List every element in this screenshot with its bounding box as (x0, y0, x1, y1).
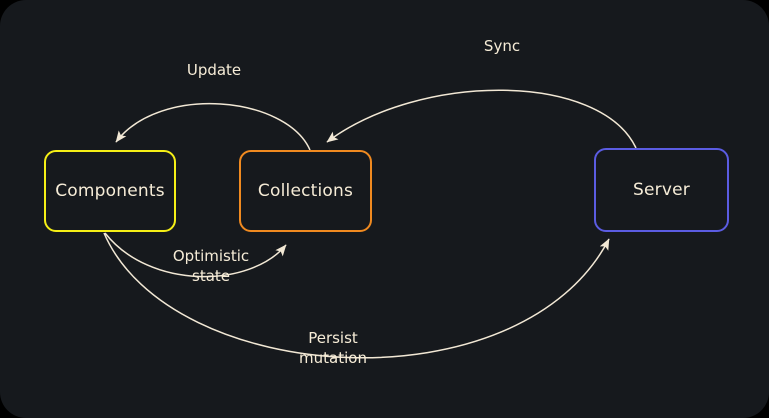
diagram-canvas: Components Collections Server Update Syn… (0, 0, 769, 418)
node-collections-label: Collections (258, 181, 353, 201)
node-components[interactable]: Components (44, 150, 176, 232)
node-components-label: Components (55, 181, 165, 201)
node-server-label: Server (633, 180, 690, 200)
edge-sync-path (327, 90, 636, 148)
edge-optimistic-state-path (105, 233, 286, 277)
node-server[interactable]: Server (594, 148, 729, 232)
edge-persist-mutation-path (104, 233, 609, 358)
edge-update-path (116, 104, 310, 150)
node-collections[interactable]: Collections (239, 150, 372, 232)
